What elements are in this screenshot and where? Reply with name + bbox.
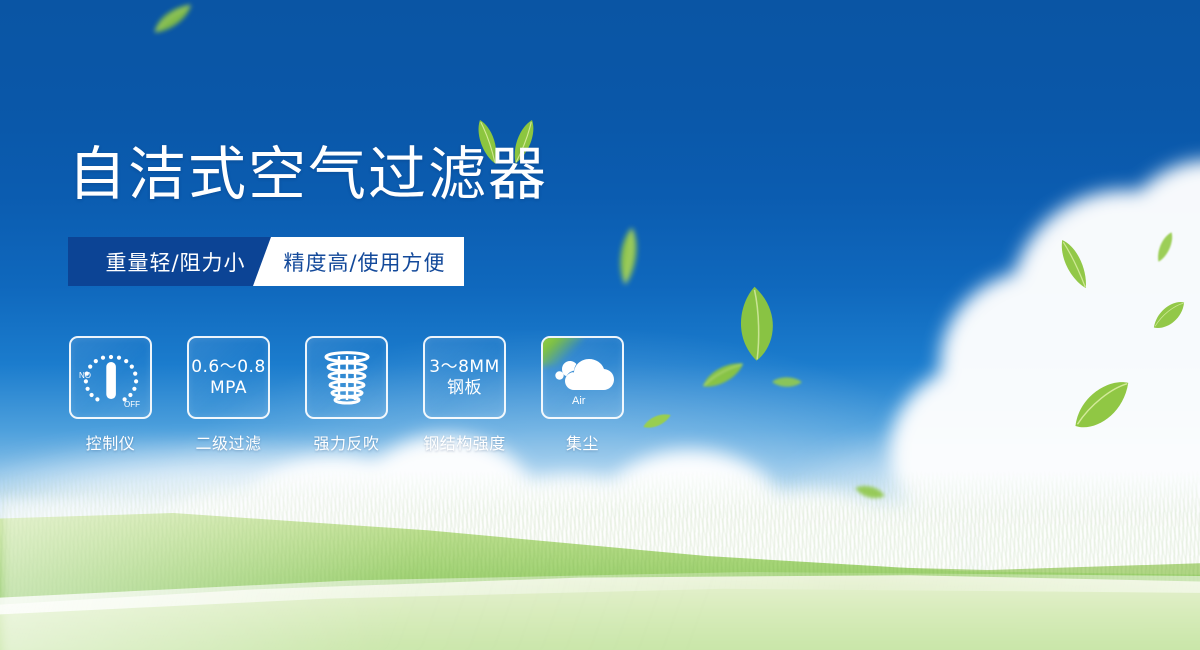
subtitle-left-panel: 重量轻/阻力小	[68, 237, 283, 286]
feature-icon-box: Air	[541, 336, 624, 419]
subtitle-right-text: 精度高/使用方便	[283, 247, 445, 277]
pressure-text-icon: 0.6～0.8 MPA	[191, 357, 266, 397]
gauge-icon: NO OFF	[77, 345, 145, 411]
feature-item-two-stage-filter[interactable]: 0.6～0.8 MPA 二级过滤	[186, 336, 271, 454]
hero-banner: 自洁式空气过滤器 重量轻/阻力小 精度高/使用方便	[0, 0, 1200, 650]
subtitle-left-text: 重量轻/阻力小	[105, 247, 245, 277]
feature-icon-box: 0.6～0.8 MPA	[187, 336, 270, 419]
cloud-air-icon: Air	[550, 347, 616, 409]
gauge-on-label: NO	[79, 371, 91, 380]
feature-label: 集尘	[566, 430, 599, 454]
grass-sheen	[0, 500, 1200, 650]
subtitle-bar: 重量轻/阻力小 精度高/使用方便	[68, 237, 464, 286]
feature-item-steel-strength[interactable]: 3～8MM 钢板 钢结构强度	[422, 336, 507, 454]
feature-label: 二级过滤	[195, 430, 261, 454]
feature-item-dust-collection[interactable]: Air 集尘	[540, 336, 625, 454]
grass-field	[0, 0, 1200, 650]
feature-icon-box: 3～8MM 钢板	[423, 336, 506, 419]
feature-list: NO OFF 控制仪 0.6～0.8 MPA 二级过滤	[68, 336, 625, 454]
feature-item-controller[interactable]: NO OFF 控制仪	[68, 336, 153, 454]
steel-plate-text-icon: 3～8MM 钢板	[429, 357, 499, 397]
feature-icon-box	[305, 336, 388, 419]
feature-label: 钢结构强度	[423, 430, 506, 454]
page-title: 自洁式空气过滤器	[68, 141, 548, 207]
feature-icon-box: NO OFF	[69, 336, 152, 419]
feature-label: 强力反吹	[313, 430, 379, 454]
air-label: Air	[572, 395, 586, 407]
gauge-off-label: OFF	[124, 400, 140, 409]
feature-label: 控制仪	[86, 430, 136, 454]
pressure-unit: MPA	[191, 378, 266, 398]
subtitle-right-panel: 精度高/使用方便	[253, 237, 464, 286]
steel-thickness: 3～8MM	[429, 357, 499, 377]
feature-item-reverse-blow[interactable]: 强力反吹	[304, 336, 389, 454]
pressure-range: 0.6～0.8	[191, 357, 266, 377]
steel-material: 钢板	[429, 378, 499, 398]
coil-icon	[316, 347, 378, 409]
